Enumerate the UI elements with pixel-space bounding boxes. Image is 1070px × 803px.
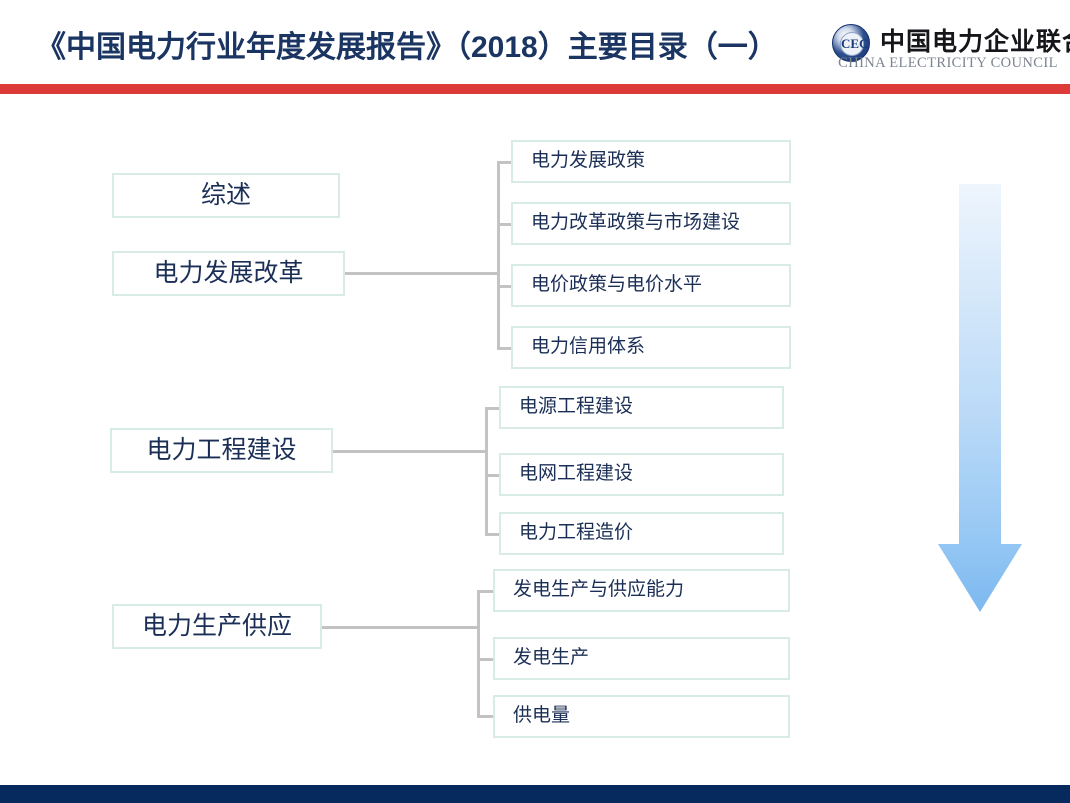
connector-stem-group-2	[333, 450, 488, 453]
connector-branch-generation-supply-capacity	[477, 590, 493, 593]
node-generation-supply-capacity[interactable]: 发电生产与供应能力	[493, 569, 790, 612]
down-flow-arrow	[938, 184, 1022, 612]
logo-name-english: CHINA ELECTRICITY COUNCIL	[832, 55, 1064, 72]
page-title: 《中国电力行业年度发展报告》（2018）主要目录（一）	[36, 28, 778, 67]
node-electricity-supplied[interactable]: 供电量	[493, 695, 790, 738]
node-label: 电力工程建设	[146, 437, 296, 465]
connector-trunk-group-2	[485, 407, 488, 535]
connector-branch-electricity-supplied	[477, 715, 493, 718]
connector-branch-reform-market	[497, 223, 511, 226]
slide-canvas: 《中国电力行业年度发展报告》（2018）主要目录（一） CEC 中国电力企业联合…	[0, 0, 1070, 803]
connector-stem-group-1	[345, 272, 500, 275]
node-generation-construction[interactable]: 电源工程建设	[499, 386, 784, 429]
logo-name-chinese: 中国电力企业联合会	[880, 22, 1070, 58]
node-label: 电价政策与电价水平	[531, 275, 702, 296]
node-label: 综述	[201, 182, 251, 210]
connector-branch-generation-construction	[485, 407, 499, 410]
connector-trunk-group-1	[497, 161, 500, 349]
node-label: 电力发展政策	[531, 151, 645, 172]
connector-branch-generation	[477, 658, 493, 661]
node-price-policy[interactable]: 电价政策与电价水平	[511, 264, 791, 307]
node-label: 发电生产	[513, 648, 589, 669]
connector-branch-policy	[497, 161, 511, 164]
node-power-engineering-construction[interactable]: 电力工程建设	[110, 428, 333, 473]
cec-emblem-label: CEC	[840, 32, 864, 56]
connector-branch-grid-construction	[485, 474, 499, 477]
node-label: 电力生产供应	[142, 613, 292, 641]
node-label: 电力发展改革	[153, 260, 303, 288]
node-label: 电力改革政策与市场建设	[531, 213, 740, 234]
node-power-development-reform[interactable]: 电力发展改革	[112, 251, 345, 296]
node-label: 电力工程造价	[519, 523, 633, 544]
node-policy[interactable]: 电力发展政策	[511, 140, 791, 183]
node-label: 电网工程建设	[519, 464, 633, 485]
node-label: 供电量	[513, 706, 570, 727]
node-generation[interactable]: 发电生产	[493, 637, 790, 680]
node-label: 电力信用体系	[531, 337, 645, 358]
node-power-production-supply[interactable]: 电力生产供应	[112, 604, 322, 649]
connector-branch-price-policy	[497, 285, 511, 288]
connector-trunk-group-3	[477, 590, 480, 717]
slide-header: 《中国电力行业年度发展报告》（2018）主要目录（一） CEC 中国电力企业联合…	[0, 0, 1070, 84]
header-divider-rule	[0, 84, 1070, 94]
node-reform-market[interactable]: 电力改革政策与市场建设	[511, 202, 791, 245]
node-credit-system[interactable]: 电力信用体系	[511, 326, 791, 369]
connector-stem-group-3	[322, 626, 480, 629]
node-engineering-cost[interactable]: 电力工程造价	[499, 512, 784, 555]
node-overview[interactable]: 综述	[112, 173, 340, 218]
node-label: 电源工程建设	[519, 397, 633, 418]
connector-branch-engineering-cost	[485, 533, 499, 536]
organization-logo: CEC 中国电力企业联合会 CHINA ELECTRICITY COUNCIL	[832, 22, 1064, 78]
connector-branch-credit-system	[497, 347, 511, 350]
slide-footer-bar	[0, 785, 1070, 803]
node-label: 发电生产与供应能力	[513, 580, 684, 601]
node-grid-construction[interactable]: 电网工程建设	[499, 453, 784, 496]
